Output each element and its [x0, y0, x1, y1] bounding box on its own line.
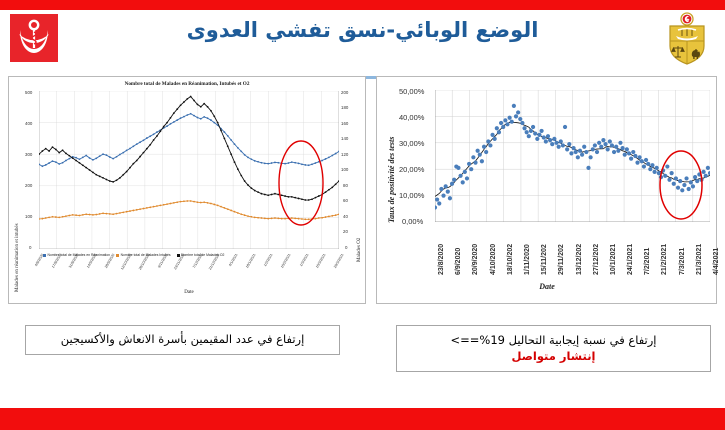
left-chart-ytick-secondary: 40 — [343, 214, 348, 219]
right-chart-ytick: 30,00% — [399, 139, 424, 148]
left-chart-ytick-secondary: 60 — [343, 198, 348, 203]
right-chart-xtick: 4/4/2021 — [713, 248, 720, 275]
callout-right-black: إرتفاع في نسبة إيجابية التحاليل 19%==> — [450, 333, 656, 347]
legend-label: Nombre total de Malades Intubés — [121, 253, 171, 257]
left-chart-xtick: 15/2/2021 — [276, 253, 291, 276]
legend-item: Nombre total de Malades O2 — [177, 253, 225, 257]
legend-swatch — [43, 254, 46, 257]
callout-right-text: إرتفاع في نسبة إيجابية التحاليل 19%==> إ… — [444, 333, 662, 364]
left-chart-ytick: 100 — [25, 214, 32, 219]
left-chart-plot-area — [39, 91, 339, 249]
legend-label: Nombre total de Malades O2 — [181, 253, 224, 257]
left-chart-panel: Nombre total de Malades en Réanimation, … — [8, 76, 366, 304]
legend-item: Nombre total de Malades Intubés — [116, 253, 170, 257]
left-chart-ytick: 200 — [25, 183, 32, 188]
left-chart-ytick: 400 — [25, 121, 32, 126]
left-chart-xtick: 4/1/2021 — [223, 253, 238, 276]
left-chart-x-axis-label: Date — [129, 290, 249, 295]
right-chart-xtick: 27/12/202 — [593, 244, 600, 275]
right-chart-xtick: 13/12/202 — [576, 244, 583, 275]
left-chart-ytick-secondary: 80 — [343, 183, 348, 188]
right-chart-xtick: 10/1/2021 — [610, 244, 617, 275]
left-chart-xtick: 18/1/2021 — [241, 253, 256, 276]
top-red-bar — [0, 0, 725, 10]
left-chart-legend: Nombre total de Malades en Réanimation N… — [43, 253, 224, 257]
right-chart-xtick: 7/3/2021 — [679, 248, 686, 275]
left-chart-secondary-y-axis-label: Malades O2 — [357, 238, 362, 262]
right-chart-xtick: 7/2/2021 — [644, 248, 651, 275]
right-chart-xtick: 29/11/202 — [558, 244, 565, 275]
left-chart-ytick-secondary: 20 — [343, 229, 348, 234]
legend-swatch — [116, 254, 119, 257]
tunisia-coat-of-arms-logo — [661, 12, 713, 66]
left-chart-y-axis-label: Malades en réanimation et intubés — [15, 223, 20, 292]
bottom-red-bar — [0, 408, 725, 430]
right-chart-xtick: 20/9/2020 — [472, 244, 479, 275]
left-chart-title: Nombre total de Malades en Réanimation, … — [9, 81, 365, 87]
left-chart-ytick-secondary: 180 — [341, 105, 348, 110]
slide-header: الوضع الوبائي-نسق تفشي العدوى — [0, 10, 725, 68]
ministry-of-health-logo — [10, 14, 58, 62]
right-chart-ytick: 40,00% — [399, 113, 424, 122]
right-chart-ytick: 50,00% — [399, 87, 424, 96]
right-chart-x-axis-label: Date — [507, 282, 587, 291]
page-title: الوضع الوبائي-نسق تفشي العدوى — [100, 18, 625, 42]
left-chart-xtick: 29/3/2021 — [329, 253, 344, 276]
callout-right-red: إنتشار متواصل — [512, 349, 596, 363]
legend-item: Nombre total de Malades en Réanimation — [43, 253, 110, 257]
legend-label: Nombre total de Malades en Réanimation — [48, 253, 111, 257]
right-chart-xtick: 4/10/2020 — [490, 244, 497, 275]
right-chart-xtick: 1/11/2020 — [524, 244, 531, 275]
left-chart-ytick-secondary: 160 — [341, 121, 348, 126]
right-chart-xtick: 15/11/202 — [541, 244, 548, 275]
callout-box-left: إرتفاع في عدد المقيمين بأسرة الانعاش وال… — [25, 325, 340, 355]
left-chart-ytick-secondary: 140 — [341, 136, 348, 141]
left-chart-ytick: 300 — [25, 152, 32, 157]
left-chart-ytick-secondary: 0 — [345, 245, 347, 250]
left-chart-ytick: 500 — [25, 90, 32, 95]
slide-root: الوضع الوبائي-نسق تفشي العدوى — [0, 0, 725, 430]
left-chart-xtick: 15/3/2021 — [311, 253, 326, 276]
callout-box-right: إرتفاع في نسبة إيجابية التحاليل 19%==> إ… — [396, 325, 711, 372]
right-chart-xtick: 23/8/2020 — [438, 244, 445, 275]
left-chart-ytick-secondary: 200 — [341, 90, 348, 95]
right-chart-ytick: 20,00% — [399, 165, 424, 174]
right-chart-plot-area — [435, 90, 710, 222]
right-chart-xtick: 18/10/202 — [507, 244, 514, 275]
legend-swatch — [177, 254, 180, 257]
left-chart-ytick-secondary: 120 — [341, 152, 348, 157]
right-chart-panel: Taux de positivité des tests 50,00% 40,0… — [376, 76, 717, 304]
left-chart-ytick-secondary: 100 — [341, 167, 348, 172]
right-chart-xtick: 21/2/2021 — [661, 244, 668, 275]
left-chart-xtick: 1/3/2021 — [294, 253, 309, 276]
right-chart-y-axis-label: Taux de positivité des tests — [387, 137, 396, 223]
callout-left-text: إرتفاع في عدد المقيمين بأسرة الانعاش وال… — [55, 332, 311, 348]
left-chart-xtick: 1/2/2021 — [258, 253, 273, 276]
right-chart-xtick: 21/3/2021 — [696, 244, 703, 275]
right-chart-xtick: 24/1/2021 — [627, 244, 634, 275]
right-chart-ytick: 0,00% — [402, 217, 423, 226]
right-chart-ytick: 10,00% — [399, 191, 424, 200]
right-chart-xtick: 6/9/2020 — [455, 248, 462, 275]
left-chart-ytick: 0 — [29, 245, 31, 250]
